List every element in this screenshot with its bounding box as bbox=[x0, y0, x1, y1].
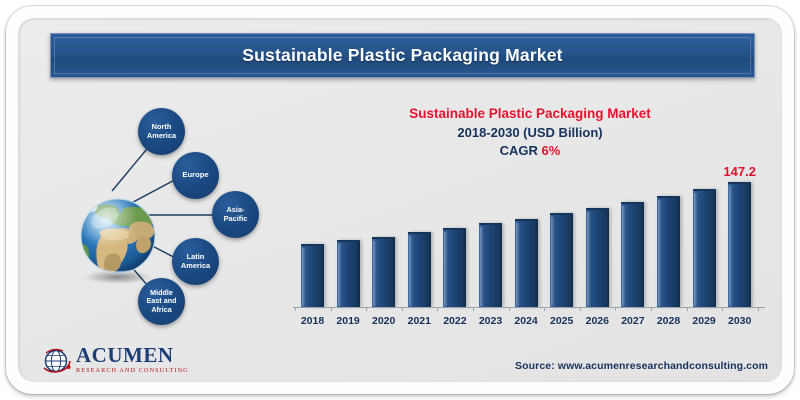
region-bubble-asia-pacific[interactable]: Asia- Pacific bbox=[212, 191, 259, 238]
chart-cagr: CAGR 6% bbox=[285, 142, 775, 160]
market-chart: Sustainable Plastic Packaging Market 201… bbox=[285, 105, 775, 335]
bar-2020 bbox=[372, 237, 395, 307]
tick-2030 bbox=[722, 307, 723, 311]
page-title: Sustainable Plastic Packaging Market bbox=[242, 45, 562, 66]
tick-2028 bbox=[651, 307, 652, 311]
bar-2021 bbox=[408, 232, 431, 307]
region-bubble-europe[interactable]: Europe bbox=[172, 152, 219, 199]
tick-2026 bbox=[580, 307, 581, 311]
infographic-root: Sustainable Plastic Packaging Market bbox=[0, 0, 800, 400]
globe-logo-icon bbox=[42, 346, 72, 376]
tick-2027 bbox=[615, 307, 616, 311]
x-label-2030: 2030 bbox=[723, 315, 757, 327]
x-axis-line bbox=[293, 307, 765, 308]
bar-series bbox=[293, 183, 765, 307]
region-bubble-middle-east-and-africa[interactable]: Middle East and Africa bbox=[138, 278, 185, 325]
cagr-value: 6% bbox=[542, 143, 561, 158]
peak-value-label: 147.2 bbox=[710, 164, 770, 179]
tick-2022 bbox=[437, 307, 438, 311]
chart-subtitle: 2018-2030 (USD Billion) bbox=[285, 124, 775, 142]
title-banner: Sustainable Plastic Packaging Market bbox=[50, 33, 755, 78]
tick-2025 bbox=[544, 307, 545, 311]
bar-2027 bbox=[621, 202, 644, 307]
logo-wordmark: ACUMEN RESEARCH AND CONSULTING bbox=[76, 345, 189, 374]
region-label-asia-pacific: Asia- Pacific bbox=[224, 206, 248, 223]
bar-2030 bbox=[728, 182, 751, 307]
bar-2029 bbox=[693, 189, 716, 307]
tick-end bbox=[758, 307, 759, 311]
bar-2022 bbox=[443, 228, 466, 307]
tick-2029 bbox=[687, 307, 688, 311]
bar-2028 bbox=[657, 196, 680, 307]
bar-2025 bbox=[550, 213, 573, 307]
logo-tagline: RESEARCH AND CONSULTING bbox=[76, 368, 189, 374]
chart-title: Sustainable Plastic Packaging Market bbox=[285, 105, 775, 124]
chart-plot-area: 2018201920202021202220232024202520262027… bbox=[293, 183, 765, 307]
region-bubble-north-america[interactable]: North America bbox=[138, 108, 185, 155]
x-label-2019: 2019 bbox=[331, 315, 365, 327]
x-label-2022: 2022 bbox=[438, 315, 472, 327]
company-logo: ACUMEN RESEARCH AND CONSULTING bbox=[42, 345, 222, 379]
tick-2024 bbox=[509, 307, 510, 311]
tick-2018 bbox=[295, 307, 296, 311]
x-label-2020: 2020 bbox=[367, 315, 401, 327]
x-label-2018: 2018 bbox=[296, 315, 330, 327]
x-label-2023: 2023 bbox=[474, 315, 508, 327]
x-label-2021: 2021 bbox=[402, 315, 436, 327]
bar-2023 bbox=[479, 223, 502, 307]
region-label-middle-east-and-africa: Middle East and Africa bbox=[147, 289, 177, 313]
source-text: Source: www.acumenresearchandconsulting.… bbox=[515, 360, 768, 372]
bar-2026 bbox=[586, 208, 609, 307]
logo-name: ACUMEN bbox=[76, 345, 189, 366]
bar-2024 bbox=[515, 219, 538, 307]
x-axis-labels: 2018201920202021202220232024202520262027… bbox=[293, 315, 765, 333]
x-label-2029: 2029 bbox=[687, 315, 721, 327]
tick-2020 bbox=[366, 307, 367, 311]
region-bubble-latin-america[interactable]: Latin America bbox=[172, 238, 219, 285]
x-label-2028: 2028 bbox=[652, 315, 686, 327]
tick-2021 bbox=[402, 307, 403, 311]
x-label-2025: 2025 bbox=[545, 315, 579, 327]
region-label-latin-america: Latin America bbox=[181, 253, 210, 270]
regions-diagram: North America Europe Asia- Pacific Latin… bbox=[30, 96, 285, 331]
chart-title-block: Sustainable Plastic Packaging Market 201… bbox=[285, 105, 775, 160]
tick-2019 bbox=[331, 307, 332, 311]
tick-2023 bbox=[473, 307, 474, 311]
cagr-label: CAGR bbox=[500, 143, 542, 158]
x-label-2026: 2026 bbox=[580, 315, 614, 327]
region-label-europe: Europe bbox=[182, 171, 208, 180]
x-label-2024: 2024 bbox=[509, 315, 543, 327]
bar-2019 bbox=[337, 240, 360, 307]
bar-2018 bbox=[301, 244, 324, 307]
x-label-2027: 2027 bbox=[616, 315, 650, 327]
region-label-north-america: North America bbox=[147, 123, 176, 140]
